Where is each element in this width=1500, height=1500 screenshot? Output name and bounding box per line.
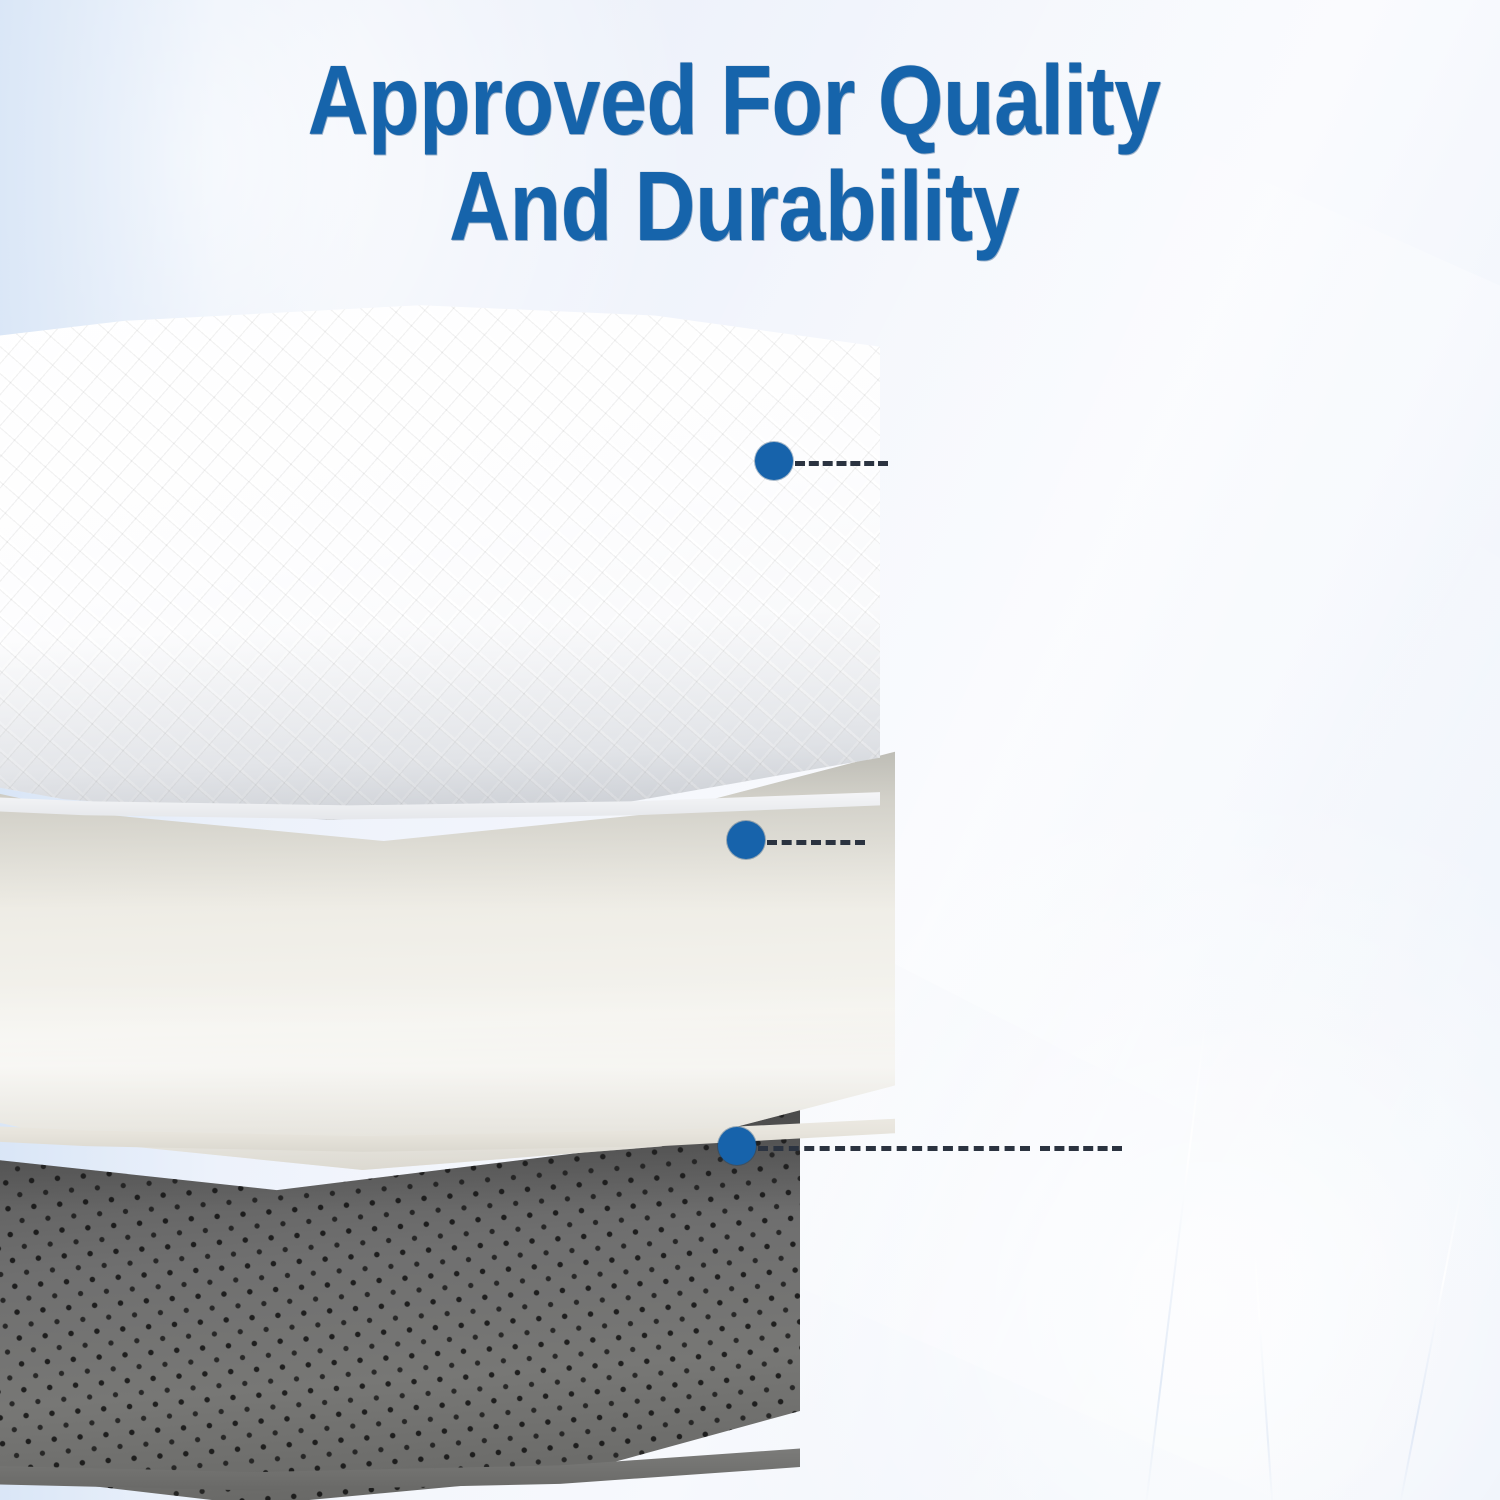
page-title-line-1: Approved For Quality xyxy=(106,48,1362,154)
top-cover-shadow xyxy=(0,300,880,820)
leader-line-segment xyxy=(1040,1146,1122,1151)
marker-dot-icon[interactable] xyxy=(727,821,765,859)
product-infographic: Approved For Quality And Durability Mois… xyxy=(0,0,1500,1500)
leader-line xyxy=(795,461,888,466)
marker-dot-icon[interactable] xyxy=(718,1127,756,1165)
page-title-line-2: And Durability xyxy=(106,154,1362,260)
leader-line xyxy=(758,1146,1030,1151)
marker-dot-icon[interactable] xyxy=(755,442,793,480)
page-title: Approved For Quality And Durability xyxy=(106,48,1362,260)
leader-line xyxy=(767,840,865,845)
quilted-top-cover-layer xyxy=(0,300,880,820)
product-layer-stack xyxy=(0,300,920,1500)
